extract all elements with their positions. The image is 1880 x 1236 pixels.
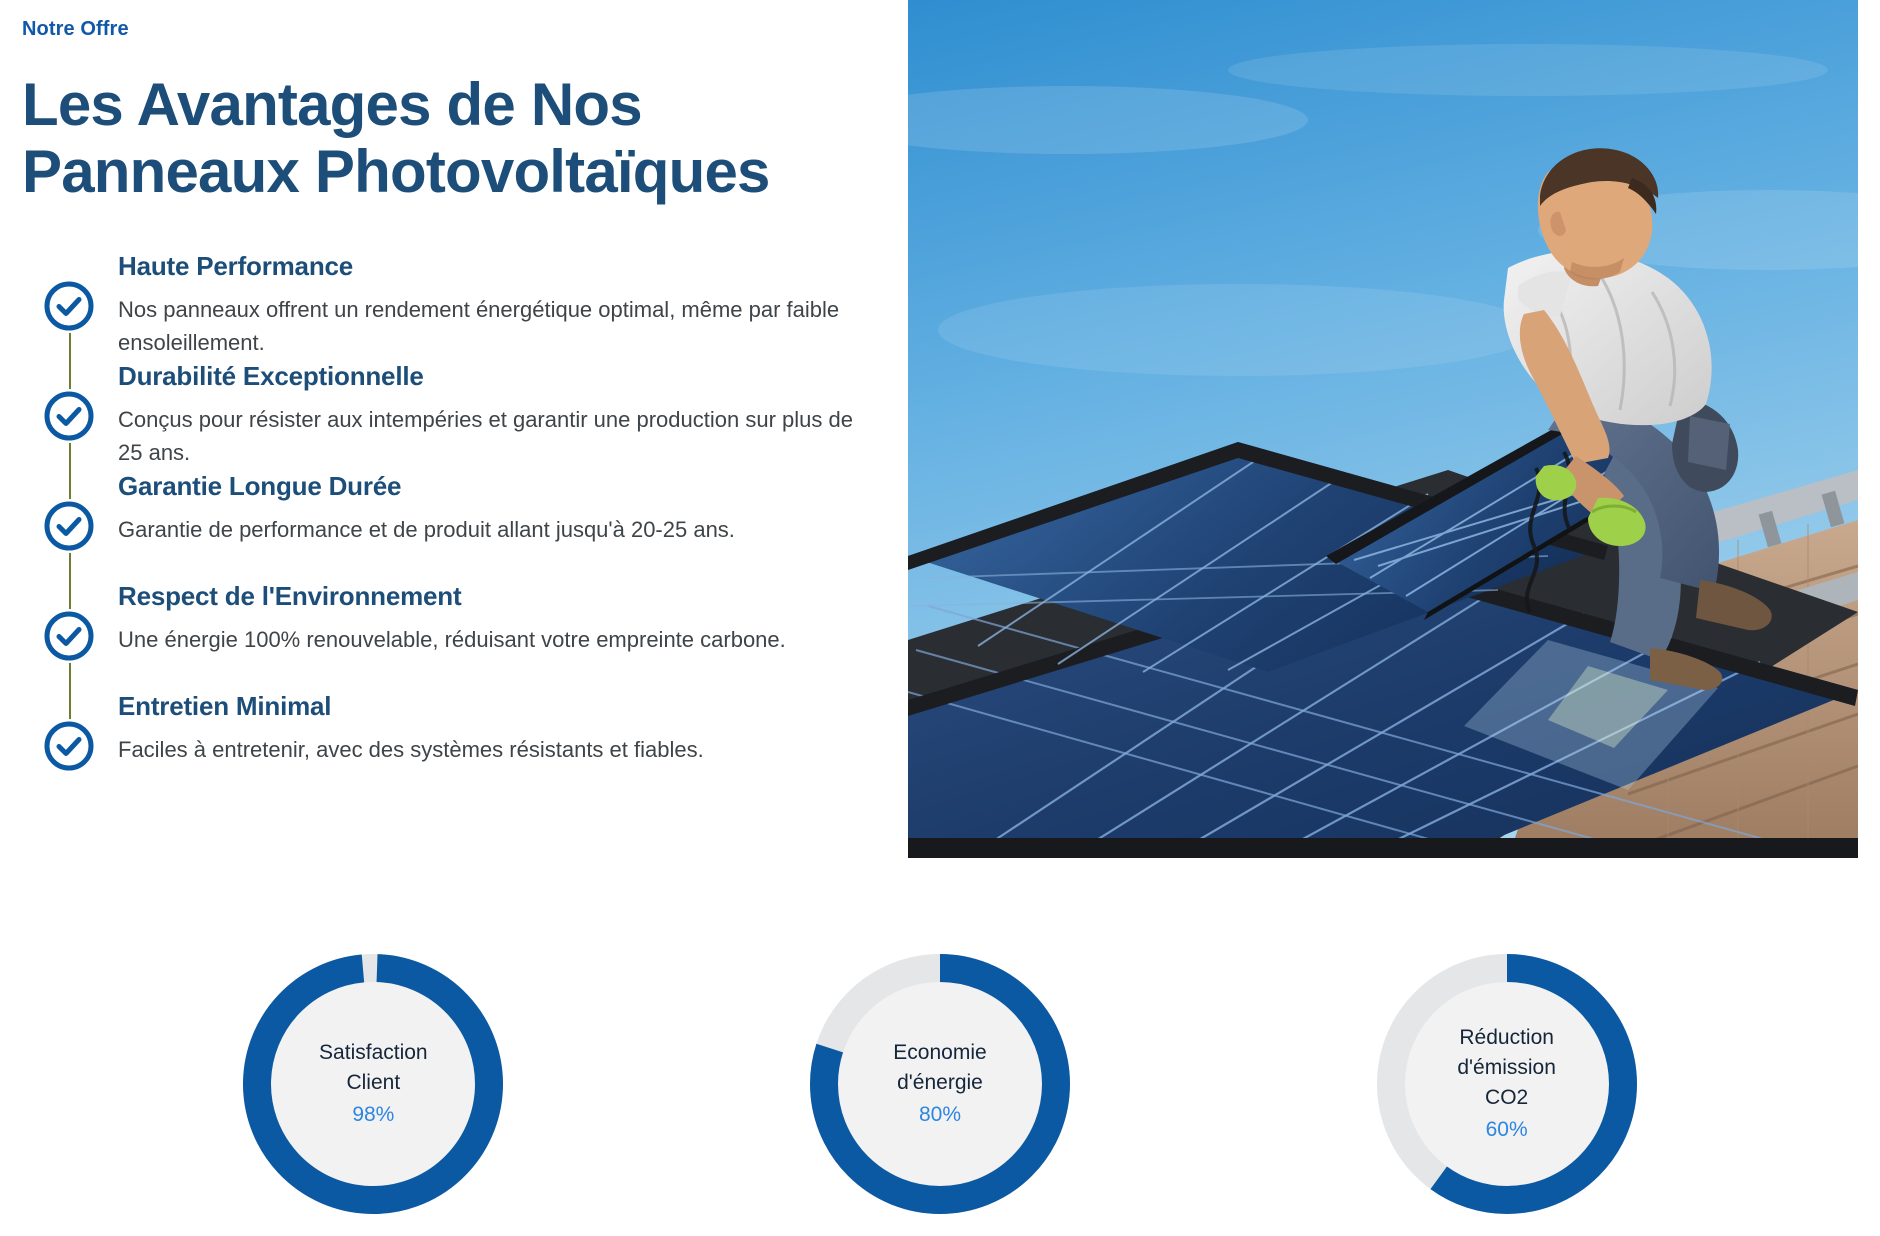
check-circle-icon [42,609,96,663]
check-circle-icon [42,499,96,553]
donut-chart-reduction-co2: Réduction d'émission CO2 60% [1373,950,1641,1218]
feature-body: Durabilité Exceptionnelle Conçus pour ré… [118,361,898,468]
donut-chart-satisfaction-client: Satisfaction Client 98% [239,950,507,1218]
feature-marker [22,691,118,801]
feature-body: Haute Performance Nos panneaux offrent u… [118,251,898,358]
feature-list: Haute Performance Nos panneaux offrent u… [22,251,902,801]
feature-description: Une énergie 100% renouvelable, réduisant… [118,623,786,656]
feature-body: Respect de l'Environnement Une énergie 1… [118,581,806,655]
page-title: Les Avantages de Nos Panneaux Photovolta… [22,71,892,205]
feature-marker [22,581,118,691]
check-circle-icon [42,719,96,773]
feature-marker [22,471,118,581]
check-circle-icon [42,389,96,443]
donut-chart-economie-energie: Economie d'énergie 80% [806,950,1074,1218]
list-item: Respect de l'Environnement Une énergie 1… [22,581,902,691]
list-item: Garantie Longue Durée Garantie de perfor… [22,471,902,581]
advantages-section: Notre Offre Les Avantages de Nos Panneau… [0,0,1880,1236]
stats-row: Satisfaction Client 98% Economie d'énerg… [0,950,1880,1236]
section-eyebrow: Notre Offre [22,18,902,41]
list-item: Durabilité Exceptionnelle Conçus pour ré… [22,361,902,471]
feature-description: Conçus pour résister aux intempéries et … [118,403,878,469]
feature-body: Garantie Longue Durée Garantie de perfor… [118,471,755,545]
feature-marker [22,251,118,361]
feature-body: Entretien Minimal Faciles à entretenir, … [118,691,724,765]
feature-description: Faciles à entretenir, avec des systèmes … [118,733,704,766]
feature-title: Durabilité Exceptionnelle [118,361,878,392]
feature-title: Respect de l'Environnement [118,581,786,612]
feature-title: Entretien Minimal [118,691,704,722]
feature-description: Garantie de performance et de produit al… [118,513,735,546]
top-section: Notre Offre Les Avantages de Nos Panneau… [0,0,1880,940]
list-item: Entretien Minimal Faciles à entretenir, … [22,691,902,801]
feature-title: Haute Performance [118,251,878,282]
hero-photo [908,0,1858,858]
list-item: Haute Performance Nos panneaux offrent u… [22,251,902,361]
feature-description: Nos panneaux offrent un rendement énergé… [118,293,878,359]
feature-marker [22,361,118,471]
content-column: Notre Offre Les Avantages de Nos Panneau… [22,18,902,801]
check-circle-icon [42,279,96,333]
feature-title: Garantie Longue Durée [118,471,735,502]
